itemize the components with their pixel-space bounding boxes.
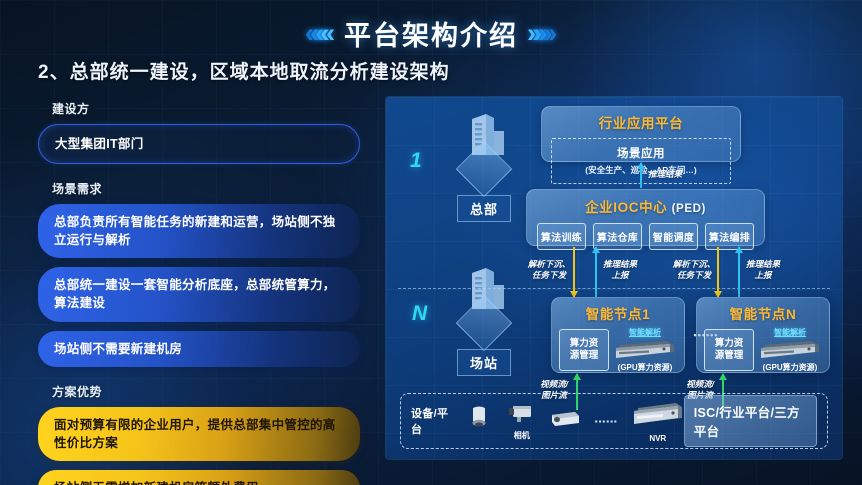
flow-label-task-dispatch-nodeN: 解析下沉、 任务下发 <box>671 259 717 282</box>
pill-requirement-item: 总部负责所有智能任务的新建和运营，场站侧不独立运行与解析 <box>38 204 360 258</box>
isc-platform-box: ISC/行业平台/三方平台 <box>684 395 817 447</box>
server-icon <box>759 339 821 361</box>
pill-advantage-item: 场站侧无需增加新建机房等额外费用 <box>38 470 360 485</box>
pill-requirement-item: 总部统一建设一套智能分析底座，总部统管算力，算法建设 <box>38 267 360 321</box>
arrow-inference-report-nodeN <box>738 247 740 297</box>
hq-index-number: 1 <box>410 149 422 173</box>
chevron-right-icon: » <box>542 20 557 47</box>
pill-builder-item: 大型集团IT部门 <box>38 124 360 164</box>
pill-requirement-item: 场站侧不需要新建机房 <box>38 331 360 367</box>
chevron-right-group: » » » » <box>532 20 552 47</box>
smart-node-1-box: 智能节点1 算力资 源管理 智能解析 (GPU算力资源) <box>551 297 685 373</box>
app-platform-box: 行业应用平台 场景应用 (安全生产、巡检、AR车间…) <box>541 106 741 162</box>
hq-label: 总部 <box>457 195 511 222</box>
flow-label-inference-report-nodeN: 推理结果 上报 <box>741 259 785 282</box>
app-platform-title: 行业应用平台 <box>542 112 740 132</box>
hq-platform <box>446 149 522 179</box>
server-icon <box>614 339 676 361</box>
page-subtitle: 2、总部统一建设，区域本地取流分析建设架构 <box>38 57 450 84</box>
bullet-camera-icon <box>507 402 537 424</box>
station-label: 场站 <box>457 349 511 376</box>
flow-label-line1: 解析下沉、 <box>673 259 716 269</box>
dome-camera-item <box>469 405 489 438</box>
device-ellipsis: ▪▪▪▪▪▪ <box>595 417 618 426</box>
ioc-chip-algorithm-warehouse[interactable]: 算法仓库 <box>593 223 642 250</box>
zone-divider <box>398 288 830 289</box>
left-content-column: 建设方 大型集团IT部门 场景需求 总部负责所有智能任务的新建和运营，场站侧不独… <box>38 100 360 485</box>
smart-analysis-caption: 智能解析 <box>758 327 822 338</box>
gpu-resource-caption: (GPU算力资源) <box>758 362 822 373</box>
building-icon <box>441 111 527 173</box>
compute-mgmt-line1: 算力资 <box>715 338 744 349</box>
chevron-left-icon: « <box>320 20 335 47</box>
bullet-camera-item: 相机 <box>507 402 537 441</box>
smart-node-1-title: 智能节点1 <box>552 303 684 323</box>
page-title: 平台架构介绍 <box>338 14 524 53</box>
smart-analysis-column: 智能解析 (GPU算力资源) <box>758 327 822 373</box>
ioc-chip-smart-scheduling[interactable]: 智能调度 <box>649 223 698 250</box>
section-label-requirements: 场景需求 <box>52 180 360 197</box>
pill-advantage-item: 面对预算有限的企业用户，提供总部集中管控的高性价比方案 <box>38 407 360 461</box>
ioc-center-title-suffix: (PED) <box>672 203 706 215</box>
compute-mgmt-line1: 算力资 <box>570 338 599 349</box>
flow-label-inference-result: 推理结果 <box>648 169 694 180</box>
arrow-inference-to-app <box>640 163 642 188</box>
ioc-chip-algorithm-orchestration[interactable]: 算法编排 <box>705 223 754 250</box>
ioc-center-box: 企业IOC中心 (PED) 算法训练 算法仓库 智能调度 算法编排 <box>526 189 765 246</box>
ioc-chip-algorithm-training[interactable]: 算法训练 <box>537 223 586 250</box>
smart-node-1-body: 算力资 源管理 智能解析 (GPU算力资源) <box>552 323 684 373</box>
flow-label-line1: 视频流/ <box>686 379 714 389</box>
station-platform <box>446 303 522 333</box>
nvr-item: NVR <box>632 400 684 443</box>
page-title-bar: « « « « 平台架构介绍 » » » » <box>0 14 862 53</box>
arrow-inference-report-node1 <box>595 247 597 297</box>
station-index-number: N <box>412 302 427 326</box>
flow-label-line2: 上报 <box>611 270 628 280</box>
arrow-task-dispatch-node1 <box>573 247 575 297</box>
flow-label-line2: 任务下发 <box>532 270 566 280</box>
box-camera-icon <box>549 409 581 429</box>
dome-camera-icon <box>469 405 489 433</box>
smart-analysis-caption: 智能解析 <box>613 327 677 338</box>
camera-caption: 相机 <box>507 430 537 441</box>
smart-analysis-column: 智能解析 (GPU算力资源) <box>613 327 677 373</box>
nvr-icon <box>632 400 684 428</box>
device-platform-row: 设备/平台 相机 ▪▪▪▪▪▪ <box>400 393 828 449</box>
gpu-resource-caption: (GPU算力资源) <box>613 362 677 373</box>
flow-label-line1: 推理结果 <box>746 259 780 269</box>
smart-node-N-body: 算力资 源管理 智能解析 (GPU算力资源) <box>697 323 829 373</box>
flow-label-line2: 任务下发 <box>677 270 711 280</box>
ioc-center-title: 企业IOC中心 (PED) <box>527 196 764 216</box>
scenario-application-title: 场景应用 <box>556 145 726 161</box>
compute-resource-mgmt-box: 算力资 源管理 <box>559 329 609 371</box>
compute-mgmt-line2: 源管理 <box>570 350 599 361</box>
section-label-advantages: 方案优势 <box>52 383 360 400</box>
flow-label-line1: 推理结果 <box>603 259 637 269</box>
ioc-center-title-text: 企业IOC中心 <box>585 200 667 215</box>
smart-node-N-box: 智能节点N 算力资 源管理 智能解析 (GPU算力资源) <box>696 297 830 373</box>
chevron-left-group: « « « « <box>310 20 330 47</box>
ioc-capability-row: 算法训练 算法仓库 智能调度 算法编排 <box>527 223 764 250</box>
section-label-builder: 建设方 <box>52 100 360 117</box>
flow-label-line1: 视频流/ <box>540 379 568 389</box>
compute-resource-mgmt-box: 算力资 源管理 <box>704 329 754 371</box>
flow-label-line1: 解析下沉、 <box>528 259 571 269</box>
station-node: 场站 <box>441 265 527 376</box>
flow-label-inference-report-node1: 推理结果 上报 <box>598 259 642 282</box>
nvr-caption: NVR <box>632 434 684 443</box>
smart-node-N-title: 智能节点N <box>697 303 829 323</box>
architecture-diagram-panel: 1 总部 N <box>386 97 842 459</box>
building-icon <box>441 265 527 327</box>
flow-label-task-dispatch-node1: 解析下沉、 任务下发 <box>526 259 572 282</box>
flow-label-line2: 上报 <box>754 270 771 280</box>
device-platform-label: 设备/平台 <box>411 405 453 437</box>
compute-mgmt-line2: 源管理 <box>715 350 744 361</box>
hq-node: 总部 <box>441 111 527 222</box>
arrow-task-dispatch-nodeN <box>717 247 719 297</box>
box-camera-item <box>549 409 581 434</box>
